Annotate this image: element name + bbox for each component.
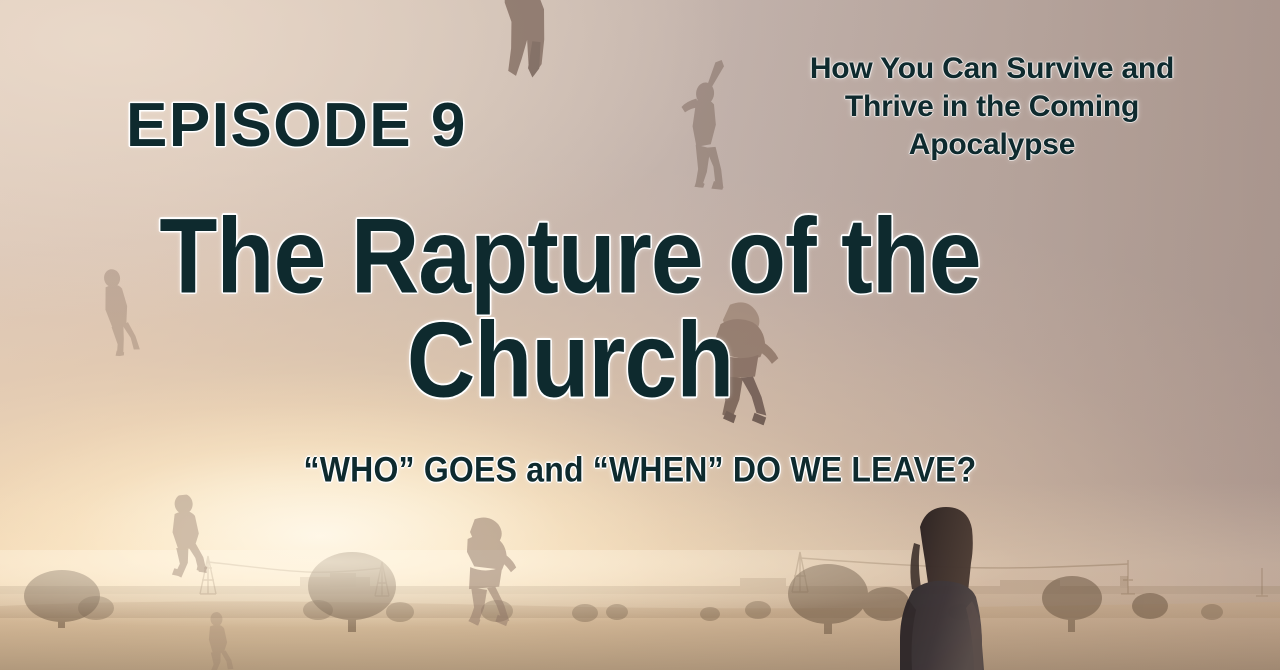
subtitle: “WHO” GOES and “WHEN” DO WE LEAVE? (0, 452, 1280, 487)
ascending-figure-6 (449, 514, 525, 628)
ascending-figure-7 (194, 611, 242, 670)
ascending-figure-1 (481, 0, 571, 83)
episode-label: EPISODE 9 (126, 95, 467, 157)
woman-standing-silhouette (890, 505, 1025, 670)
ascending-figure-2 (669, 55, 748, 191)
ascending-figure-5 (153, 492, 217, 579)
tagline: How You Can Survive and Thrive in the Co… (792, 50, 1192, 163)
page-title: The Rapture of the Church (130, 205, 1010, 414)
video-thumbnail-poster: EPISODE 9 The Rapture of the Church How … (0, 0, 1280, 670)
